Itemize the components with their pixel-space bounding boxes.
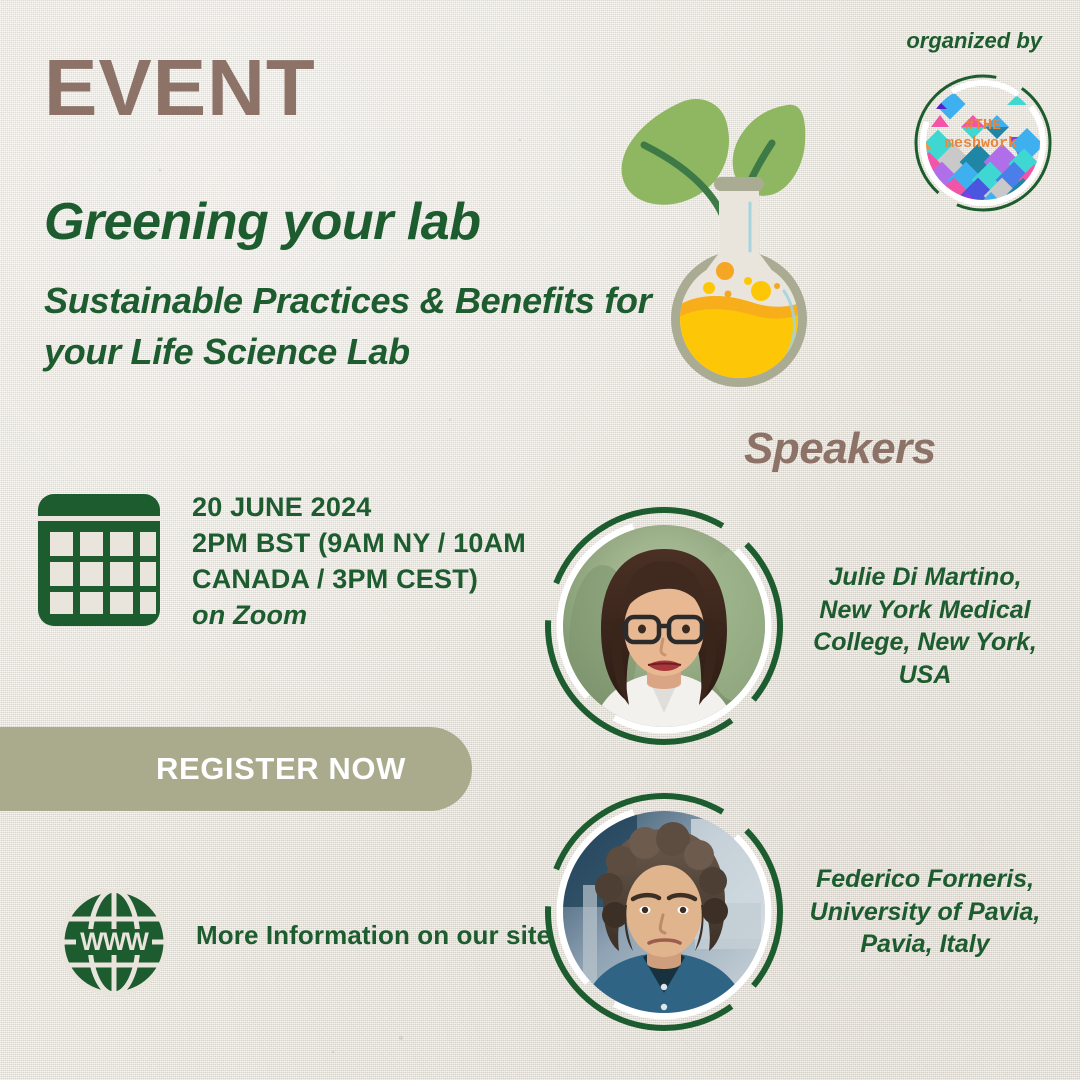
- speaker-portrait: [536, 498, 792, 754]
- calendar-icon: [36, 492, 162, 628]
- page-title: Greening your lab: [44, 195, 480, 250]
- speaker-info: Julie Di Martino, New York Medical Colle…: [792, 561, 1076, 691]
- more-information-label: More Information on our site: [196, 920, 551, 951]
- event-time-line-2: CANADA / 3PM CEST): [192, 562, 552, 598]
- bubble-3: [744, 277, 752, 285]
- bubble-4: [751, 281, 771, 301]
- speaker-name-line: Federico Forneris,: [802, 863, 1048, 896]
- event-time-line-1: 2PM BST (9AM NY / 10AM: [192, 526, 552, 562]
- register-now-label: REGISTER NOW: [156, 751, 406, 787]
- speaker-row: Julie Di Martino, New York Medical Colle…: [536, 492, 1076, 760]
- event-label: EVENT: [44, 48, 316, 128]
- speaker-row: Federico Forneris, University of Pavia, …: [536, 778, 1076, 1046]
- logo-wordmark-text: meshwork: [945, 135, 1017, 152]
- speaker-affiliation-line: Pavia, Italy: [802, 928, 1048, 961]
- speaker-affiliation-line: USA: [802, 659, 1048, 692]
- speaker-info: Federico Forneris, University of Pavia, …: [792, 863, 1076, 961]
- register-now-button[interactable]: REGISTER NOW: [0, 727, 472, 811]
- speaker-name-line: Julie Di Martino,: [802, 561, 1048, 594]
- globe-www-icon: WWW: [60, 888, 168, 996]
- bubble-5: [774, 283, 780, 289]
- meshwork-logo[interactable]: #THE meshwork: [911, 71, 1055, 215]
- speaker-affiliation-line: College, New York,: [802, 626, 1048, 659]
- speaker-photo-2: [563, 811, 765, 1013]
- organized-by-label: organized by: [906, 28, 1042, 54]
- globe-www-text: WWW: [80, 928, 149, 956]
- plant-in-flask-illustration: [588, 95, 838, 390]
- speaker-affiliation-line: New York Medical: [802, 594, 1048, 627]
- bubble-2: [703, 282, 715, 294]
- bubble-1: [716, 262, 734, 280]
- logo-hashtag-text: #THE: [965, 117, 1001, 134]
- speaker-affiliation-line: University of Pavia,: [802, 896, 1048, 929]
- flask-lip: [714, 177, 764, 191]
- event-datetime-block: 20 JUNE 2024 2PM BST (9AM NY / 10AM CANA…: [192, 490, 552, 634]
- event-poster: EVENT Greening your lab Sustainable Prac…: [0, 0, 1080, 1080]
- event-platform: on Zoom: [192, 598, 552, 634]
- speaker-photo-1: [563, 525, 765, 727]
- bubble-6: [725, 291, 732, 298]
- speaker-portrait: [536, 784, 792, 1040]
- event-date: 20 JUNE 2024: [192, 490, 552, 526]
- speakers-heading: Speakers: [744, 424, 936, 474]
